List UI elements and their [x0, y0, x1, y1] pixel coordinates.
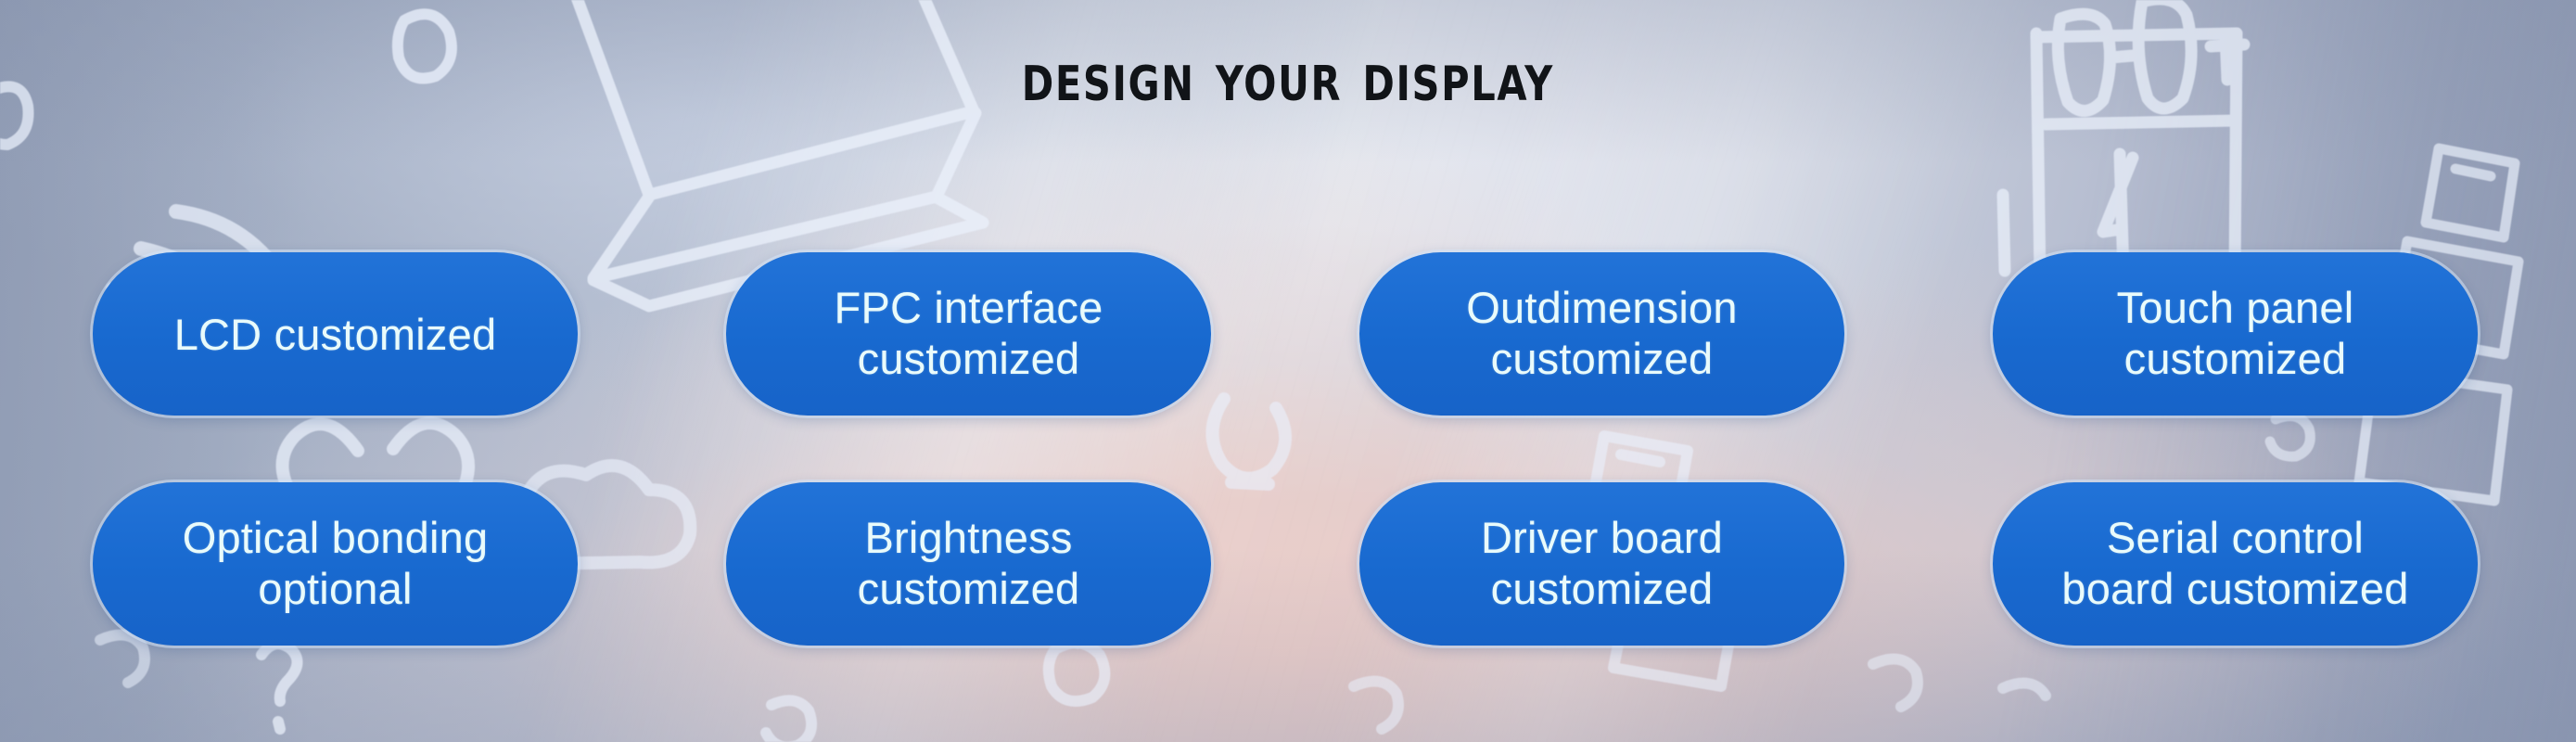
- pill-label: Serial control board customized: [2061, 513, 2408, 615]
- pill-brightness-customized[interactable]: Brightness customized: [726, 482, 1211, 646]
- monitor-sketch-icon: [2003, 0, 2244, 278]
- zero-sketch-icon: [0, 86, 29, 145]
- question-mark-sketch-icon: [261, 644, 298, 729]
- pill-optical-bonding-optional[interactable]: Optical bonding optional: [93, 482, 578, 646]
- pill-label: Optical bonding optional: [183, 513, 489, 615]
- pill-label: FPC interface customized: [835, 283, 1103, 385]
- pill-driver-board-customized[interactable]: Driver board customized: [1359, 482, 1844, 646]
- gear-sketch-icon: [766, 700, 811, 742]
- pill-label: Brightness customized: [858, 513, 1080, 615]
- pill-label: LCD customized: [174, 313, 497, 356]
- pill-label: Driver board customized: [1481, 513, 1723, 615]
- pill-fpc-interface-customized[interactable]: FPC interface customized: [726, 252, 1211, 416]
- pill-lcd-customized[interactable]: LCD customized: [93, 252, 578, 416]
- design-your-display-banner: Design your display LCD customized FPC i…: [0, 0, 2576, 742]
- pill-touch-panel-customized[interactable]: Touch panel customized: [1993, 252, 2478, 416]
- pill-serial-control-board-customized[interactable]: Serial control board customized: [1993, 482, 2478, 646]
- pill-label: Touch panel customized: [2117, 283, 2354, 385]
- zero-sketch-icon: [398, 14, 452, 78]
- pill-label: Outdimension customized: [1466, 283, 1737, 385]
- feature-pill-grid: LCD customized FPC interface customized …: [93, 252, 2478, 646]
- pill-outdimension-customized[interactable]: Outdimension customized: [1359, 252, 1844, 416]
